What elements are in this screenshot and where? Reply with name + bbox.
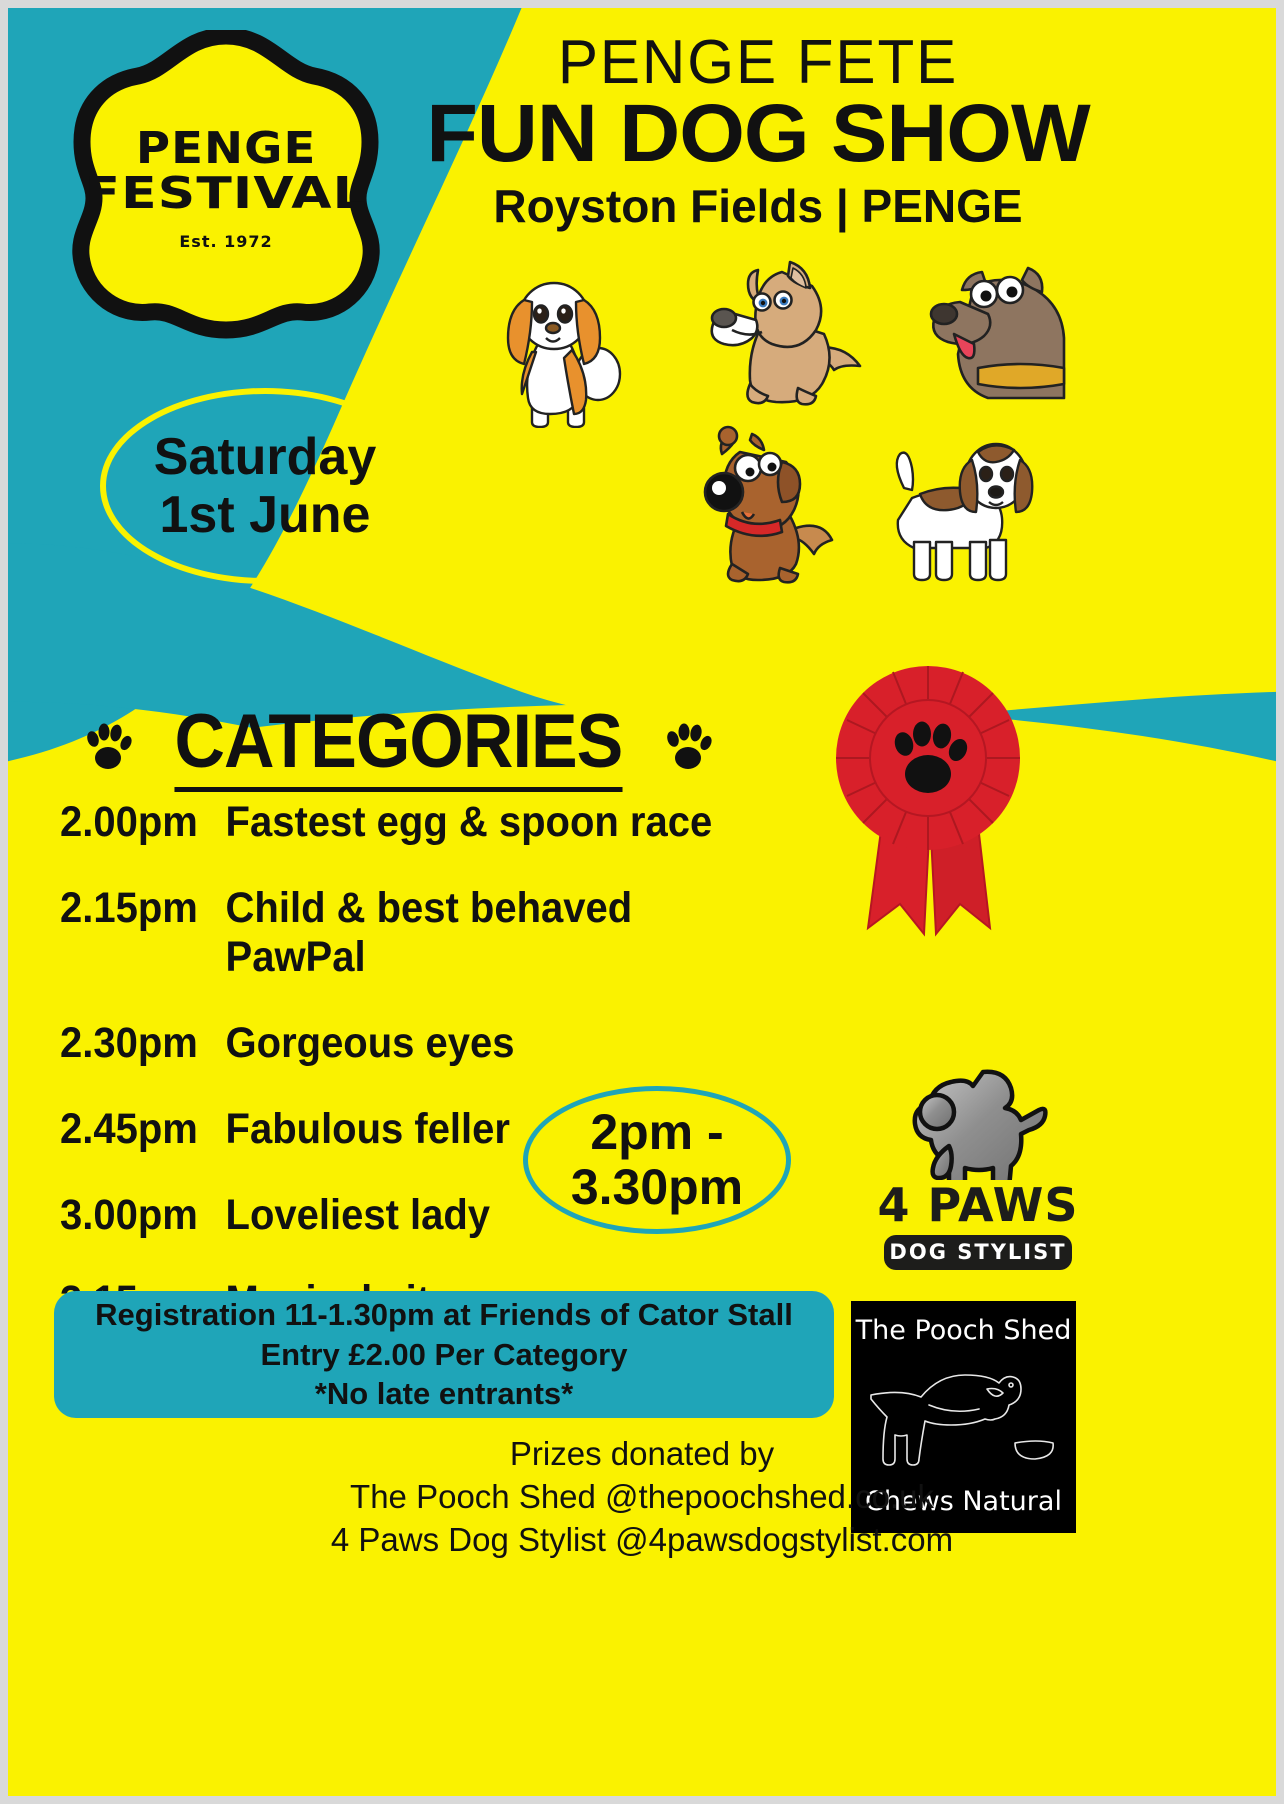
footer-line-3: 4 Paws Dog Stylist @4pawsdogstylist.com <box>8 1519 1276 1562</box>
date-line-2: 1st June <box>160 486 371 544</box>
poster-canvas: PENGE FESTIVAL Est. 1972 PENGE FETE FUN … <box>0 0 1284 1804</box>
footer-line-1: Prizes donated by <box>8 1433 1276 1476</box>
category-row: 2.15pm Child & best behaved PawPal <box>60 884 767 982</box>
header-kicker: PENGE FETE <box>438 30 1078 97</box>
tan-sitting-dog <box>698 256 873 416</box>
footer-credits: Prizes donated by The Pooch Shed @thepoo… <box>8 1433 1276 1562</box>
category-name: Fabulous feller <box>226 1105 510 1154</box>
grey-tongue-out-dog <box>916 258 1071 403</box>
category-time: 3.00pm <box>60 1191 226 1240</box>
paw-print-icon <box>83 718 133 772</box>
beagle-dog <box>874 428 1039 590</box>
registration-panel: Registration 11-1.30pm at Friends of Cat… <box>54 1291 834 1418</box>
category-name: Loveliest lady <box>226 1191 490 1240</box>
category-row: 2.00pm Fastest egg & spoon race <box>60 798 767 847</box>
four-paws-logo: 4 PAWS DOG STYLIST <box>863 1068 1093 1283</box>
date-line-1: Saturday <box>154 428 377 486</box>
category-name: Fastest egg & spoon race <box>226 798 713 847</box>
red-paw-rosette <box>788 608 1058 938</box>
time-line-2: 3.30pm <box>571 1160 743 1215</box>
registration-line-3: *No late entrants* <box>315 1374 573 1414</box>
date-badge: Saturday 1st June <box>100 388 430 584</box>
header-location: Royston Fields | PENGE <box>428 181 1088 232</box>
four-paws-badge: DOG STYLIST <box>884 1235 1072 1270</box>
footer-line-2: The Pooch Shed @thepoochshed.co.uk <box>8 1476 1276 1519</box>
cavalier-spaniel-dog <box>494 258 624 428</box>
paw-print-icon <box>663 718 713 772</box>
category-time: 2.30pm <box>60 1019 226 1068</box>
poster-header: PENGE FETE FUN DOG SHOW Royston Fields |… <box>428 30 1088 232</box>
categories-title: CATEGORIES <box>174 698 622 792</box>
time-line-1: 2pm - <box>590 1105 723 1160</box>
pooch-shed-title: The Pooch Shed <box>851 1315 1076 1346</box>
time-badge: 2pm - 3.30pm <box>523 1086 791 1234</box>
category-name: Child & best behaved PawPal <box>226 884 767 982</box>
poodle-silhouette-icon <box>863 1068 1093 1180</box>
category-name: Gorgeous eyes <box>226 1019 515 1068</box>
page-title: FUN DOG SHOW <box>418 93 1098 175</box>
category-time: 2.45pm <box>60 1105 226 1154</box>
categories-list: 2.00pm Fastest egg & spoon race 2.15pm C… <box>60 798 820 1363</box>
logo-blob-shape <box>70 30 382 348</box>
category-row: 2.30pm Gorgeous eyes <box>60 1019 767 1068</box>
category-time: 2.15pm <box>60 884 226 933</box>
categories-heading-row: CATEGORIES <box>68 698 728 792</box>
four-paws-title: 4 PAWS <box>863 1182 1093 1228</box>
penge-festival-logo: PENGE FESTIVAL Est. 1972 <box>70 30 382 348</box>
registration-line-2: Entry £2.00 Per Category <box>260 1335 627 1375</box>
brown-puppy-dog <box>684 418 844 593</box>
category-time: 2.00pm <box>60 798 226 847</box>
registration-line-1: Registration 11-1.30pm at Friends of Cat… <box>95 1295 793 1335</box>
